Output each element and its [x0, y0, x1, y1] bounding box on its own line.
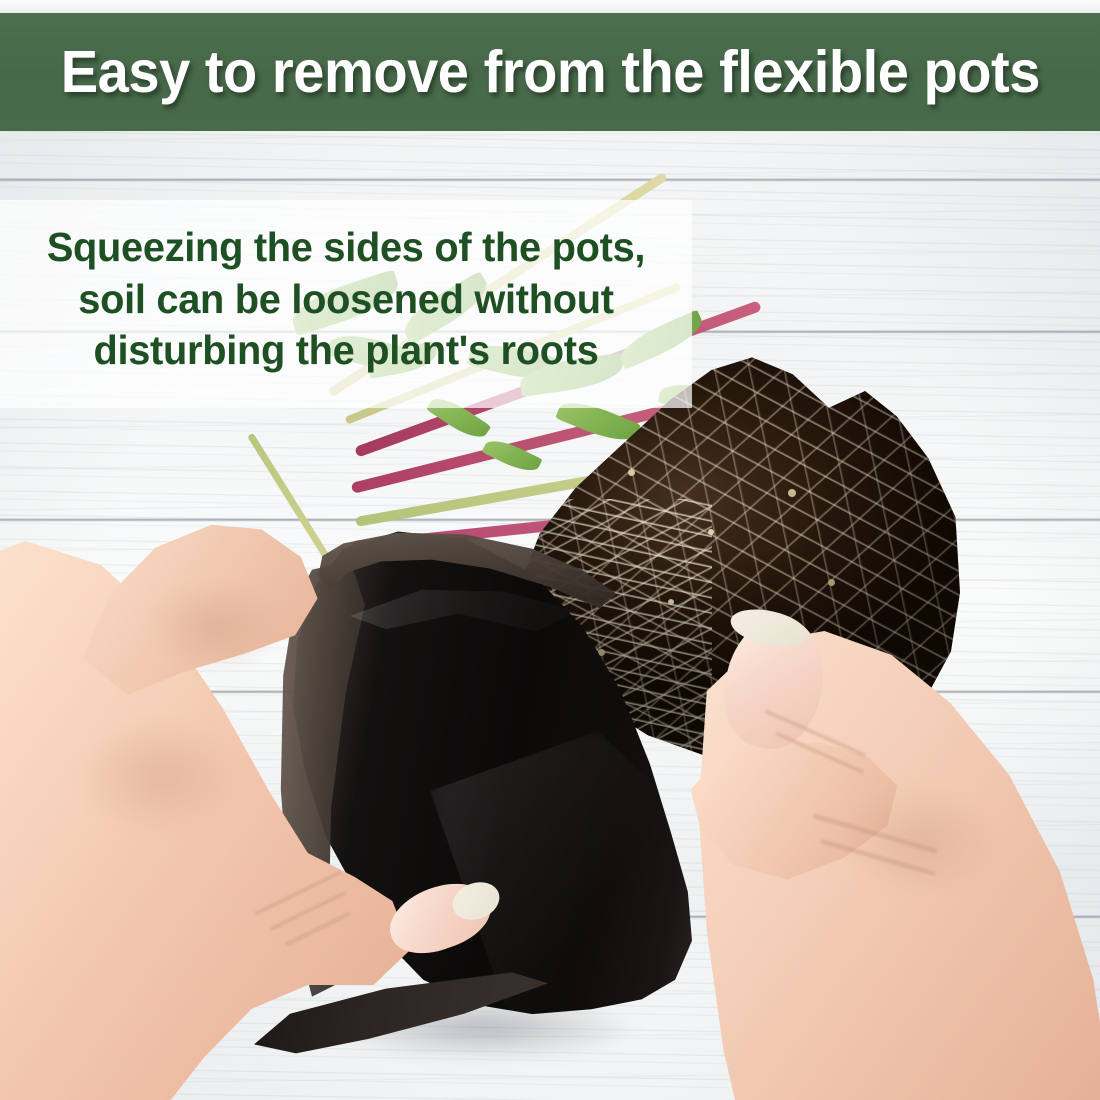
subtitle-text: Squeezing the sides of the pots, soil ca…: [10, 222, 681, 377]
top-white-strip: [0, 0, 1100, 13]
left-hand-knuckle-shading: [40, 691, 280, 861]
header-banner: Easy to remove from the flexible pots: [0, 13, 1100, 131]
left-hand-knuckle-shading: [120, 561, 310, 691]
right-hand-knuckle-shading: [810, 761, 1030, 921]
subtitle-line-1: Squeezing the sides of the pots,: [10, 222, 681, 274]
product-infographic: Easy to remove from the flexible pots Sq…: [0, 0, 1100, 1100]
subtitle-line-2: soil can be loosened without: [10, 274, 681, 326]
subtitle-line-3: disturbing the plant's roots: [10, 325, 681, 377]
banner-title: Easy to remove from the flexible pots: [60, 38, 1039, 106]
